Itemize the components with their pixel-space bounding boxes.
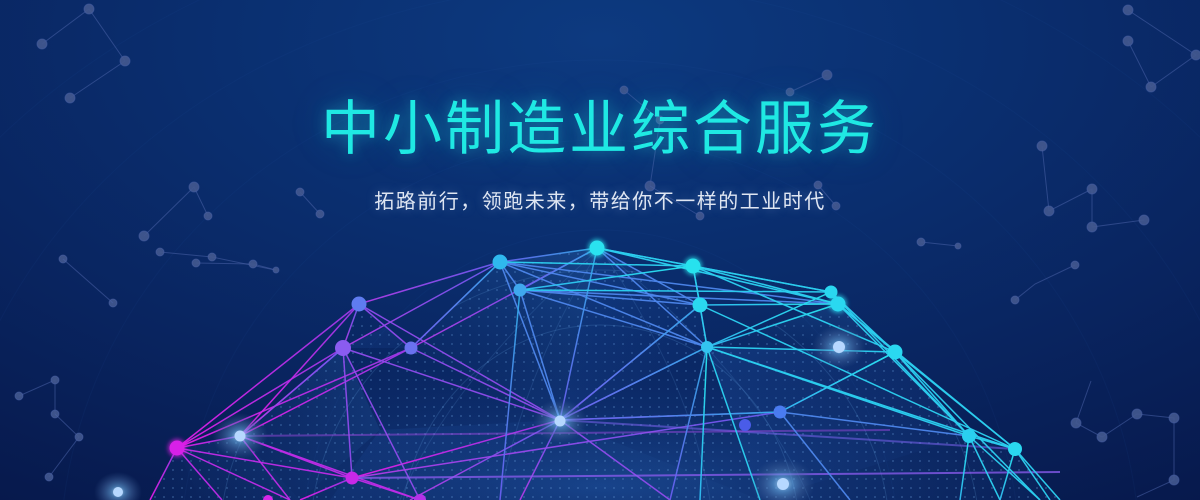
node <box>414 494 426 500</box>
dome-nodes <box>0 0 1200 500</box>
node <box>405 342 418 355</box>
node <box>686 259 701 274</box>
node <box>263 495 273 500</box>
banner-text-block: 中小制造业综合服务 拓路前行，领跑未来，带给你不一样的工业时代 <box>0 100 1200 214</box>
node <box>693 298 708 313</box>
node <box>888 345 903 360</box>
hero-banner: 中小制造业综合服务 拓路前行，领跑未来，带给你不一样的工业时代 <box>0 0 1200 500</box>
node <box>514 284 527 297</box>
node <box>352 297 367 312</box>
node <box>335 340 351 356</box>
node <box>739 419 751 431</box>
page-title: 中小制造业综合服务 <box>0 100 1200 159</box>
node <box>831 297 846 312</box>
page-subtitle: 拓路前行，领跑未来，带给你不一样的工业时代 <box>0 185 1200 214</box>
node <box>346 472 359 485</box>
node <box>825 286 838 299</box>
node <box>1008 442 1022 456</box>
node <box>774 406 787 419</box>
node <box>590 241 605 256</box>
node <box>701 341 713 353</box>
node <box>493 255 508 270</box>
node <box>962 429 976 443</box>
node <box>170 441 185 456</box>
